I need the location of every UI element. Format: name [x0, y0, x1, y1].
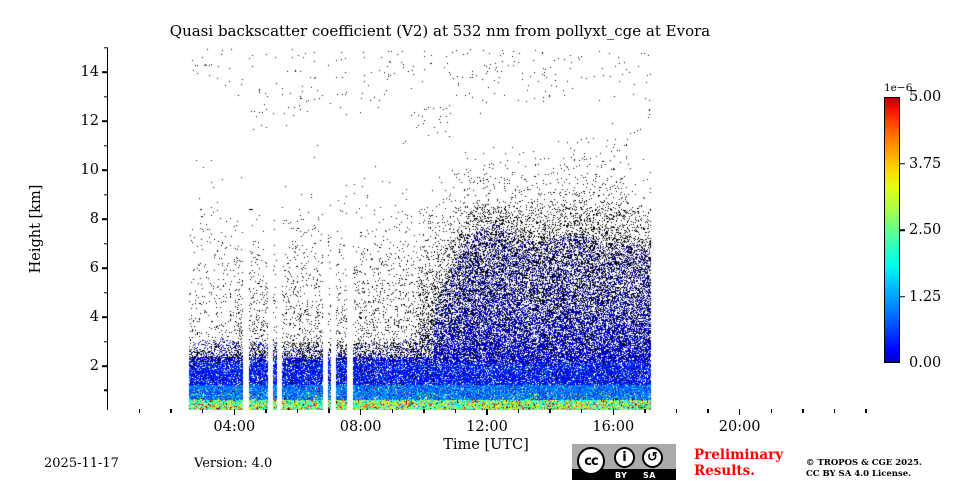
copyright-note: © TROPOS & CGE 2025. CC BY SA 4.0 Licens… [806, 458, 922, 481]
y-minor-tick-mark [104, 47, 108, 48]
x-minor-tick-mark [423, 409, 424, 413]
x-minor-tick-mark [297, 409, 298, 413]
y-tick-mark [102, 267, 108, 269]
y-tick-label: 12 [0, 114, 108, 129]
y-minor-tick-mark [104, 145, 108, 146]
cc-sa-label: SA [643, 471, 656, 480]
y-minor-tick-mark [104, 292, 108, 293]
cc-by-label: BY [615, 471, 627, 480]
x-minor-tick-mark [170, 409, 171, 413]
y-tick-label: 2 [0, 359, 108, 374]
cc-by-icon: i [614, 447, 635, 468]
colorbar-tick-label: 0.00 [900, 356, 941, 371]
x-tick-mark [613, 409, 615, 415]
x-tick-mark [739, 409, 741, 415]
copyright-line-2: CC BY SA 4.0 License. [806, 469, 922, 480]
x-minor-tick-mark [802, 409, 803, 413]
y-minor-tick-mark [104, 243, 108, 244]
page-title: Quasi backscatter coefficient (V2) at 53… [0, 22, 880, 40]
y-tick-label: 6 [0, 261, 108, 276]
y-tick-label: 10 [0, 163, 108, 178]
y-tick-mark [102, 170, 108, 172]
x-minor-tick-mark [707, 409, 708, 413]
colorbar-tick-label: 2.50 [900, 223, 941, 238]
x-minor-tick-mark [265, 409, 266, 413]
x-minor-tick-mark [139, 409, 140, 413]
colorbar-tick-mark [900, 163, 905, 165]
preliminary-line-1: Preliminary [694, 448, 783, 464]
x-minor-tick-mark [676, 409, 677, 413]
y-tick-mark [102, 316, 108, 318]
y-axis-label: Height [km] [28, 185, 44, 274]
y-tick-mark [102, 365, 108, 367]
colorbar-tick-label: 3.75 [900, 156, 941, 171]
footer-version: Version: 4.0 [194, 456, 272, 471]
y-tick-label: 14 [0, 65, 108, 80]
x-tick-mark [486, 409, 488, 415]
y-minor-tick-mark [104, 194, 108, 195]
colorbar-tick-label: 5.00 [900, 90, 941, 105]
x-tick-mark [234, 409, 236, 415]
colorbar-tick-mark [900, 229, 905, 231]
x-minor-tick-mark [834, 409, 835, 413]
x-axis-label: Time [UTC] [443, 437, 529, 453]
x-minor-tick-mark [455, 409, 456, 413]
colorbar-tick-label: 1.25 [900, 289, 941, 304]
y-tick-mark [102, 121, 108, 123]
x-minor-tick-mark [328, 409, 329, 413]
colorbar-gradient [884, 97, 900, 363]
y-tick-mark [102, 72, 108, 74]
colorbar-tick-mark [900, 296, 905, 298]
cc-icon: cc [577, 447, 605, 475]
heatmap-canvas [108, 48, 866, 410]
plot-axes: 2468101214 04:0008:0012:0016:0020:00 [107, 48, 865, 410]
x-minor-tick-mark [518, 409, 519, 413]
x-minor-tick-mark [644, 409, 645, 413]
y-minor-tick-mark [104, 390, 108, 391]
creative-commons-badge: cc i ↺ BY SA [572, 444, 676, 480]
x-tick-mark [360, 409, 362, 415]
x-minor-tick-mark [865, 409, 866, 413]
x-minor-tick-mark [392, 409, 393, 413]
footer-date: 2025-11-17 [44, 456, 119, 471]
copyright-line-1: © TROPOS & CGE 2025. [806, 458, 922, 469]
colorbar: 0.001.252.503.755.00 [884, 97, 900, 363]
y-tick-mark [102, 218, 108, 220]
cc-sa-icon: ↺ [642, 447, 663, 468]
x-minor-tick-mark [581, 409, 582, 413]
x-minor-tick-mark [549, 409, 550, 413]
preliminary-line-2: Results. [694, 464, 783, 480]
y-minor-tick-mark [104, 341, 108, 342]
preliminary-results-note: Preliminary Results. [694, 448, 783, 479]
x-minor-tick-mark [202, 409, 203, 413]
x-minor-tick-mark [771, 409, 772, 413]
y-tick-label: 4 [0, 310, 108, 325]
y-minor-tick-mark [104, 96, 108, 97]
y-tick-label: 8 [0, 212, 108, 227]
